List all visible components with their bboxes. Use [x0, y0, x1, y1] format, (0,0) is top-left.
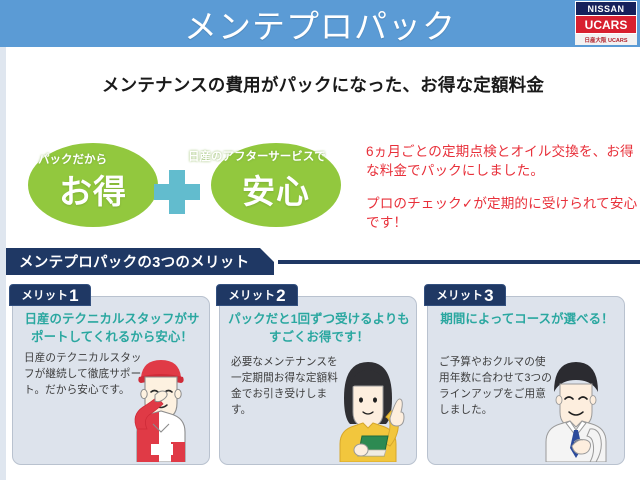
promo-paragraph-1: 6ヵ月ごとの定期点検とオイル交換を、お得な料金でパックにしました。 [366, 142, 638, 181]
merit-banner: メンテプロパックの3つのメリット [6, 248, 640, 275]
merit-banner-rule [278, 260, 640, 264]
merit-card-2: メリット 2 パックだと1回ずつ受けるよりもすごくお得です！ 必要なメンテナンス… [219, 296, 417, 465]
subtitle-text: メンテナンスの費用がパックになった、お得な定額料金 [6, 47, 640, 121]
promo-text-block: 6ヵ月ごとの定期点検とオイル交換を、お得な料金でパックにしました。 プロのチェッ… [366, 142, 638, 232]
merit-card-1-tab: メリット 1 [9, 284, 91, 306]
merit-card-1-tab-label: メリット [21, 287, 68, 303]
merit-card-1-heading: 日産のテクニカルスタッフがサポートしてくれるから安心！ [19, 311, 205, 347]
mechanic-saluting-icon [115, 347, 207, 462]
merit-card-3-tab-label: メリット [436, 287, 483, 303]
plus-icon [154, 170, 200, 214]
merit-card-3-tab-number: 3 [484, 287, 493, 304]
promo-paragraph-2: プロのチェック✓が定期的に受けられて安心です！ [366, 194, 638, 233]
ucars-logo-text: UCARS [575, 16, 637, 34]
page-title: メンテプロパック [0, 0, 640, 47]
nissan-ucars-logo: NISSAN UCARS 日産大阪 UCARS [575, 1, 637, 46]
merit-card-3-tab: メリット 3 [424, 284, 506, 306]
merit-banner-tab: メンテプロパックの3つのメリット [6, 248, 274, 275]
merit-card-2-tab-number: 2 [276, 287, 285, 304]
page-header: メンテプロパック NISSAN UCARS 日産大阪 UCARS [0, 0, 640, 47]
merit-card-2-tab: メリット 2 [216, 284, 298, 306]
nissan-logo-text: NISSAN [575, 1, 637, 16]
benefit-badge-anshin-caption: 日産のアフターサービスで [188, 148, 326, 164]
advertisement-page: メンテプロパック NISSAN UCARS 日産大阪 UCARS メンテナンスの… [0, 0, 640, 480]
benefit-badge-anshin-label: 安心 [242, 165, 310, 213]
merit-card-2-tab-label: メリット [228, 287, 275, 303]
benefit-badges-group: お得 パックだから 安心 日産のアフターサービスで [6, 126, 358, 238]
merit-card-2-heading: パックだと1回ずつ受けるよりもすごくお得です！ [226, 311, 412, 347]
woman-pointing-icon [328, 354, 412, 462]
benefit-badge-otoku-caption: パックだから [38, 151, 107, 167]
merit-banner-label: メンテプロパックの3つのメリット [19, 251, 249, 272]
benefit-badge-otoku-label: お得 [59, 165, 127, 213]
businessman-icon [536, 354, 620, 462]
merit-card-3-heading: 期間によってコースが選べる！ [434, 311, 620, 329]
merit-card-3: メリット 3 期間によってコースが選べる！ ご予算やおクルマの使用年数に合わせて… [427, 296, 625, 465]
merit-card-1: メリット 1 日産のテクニカルスタッフがサポートしてくれるから安心！ 日産のテク… [12, 296, 210, 465]
dealer-name-text: 日産大阪 UCARS [575, 34, 637, 45]
merit-card-1-tab-number: 1 [69, 287, 78, 304]
